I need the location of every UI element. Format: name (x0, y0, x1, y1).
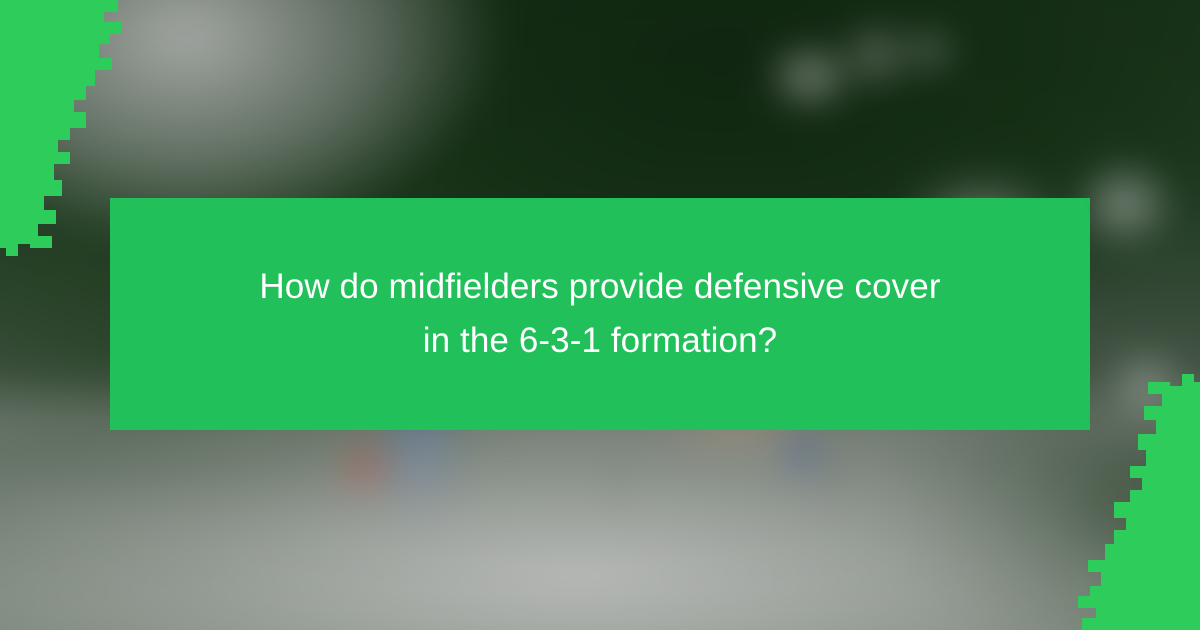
banner-title-line-1: How do midfielders provide defensive cov… (259, 260, 940, 314)
banner-title-line-2: in the 6-3-1 formation? (423, 314, 777, 368)
share-card-canvas: How do midfielders provide defensive cov… (0, 0, 1200, 630)
banner-title-text: How do midfielders provide defensive cov… (110, 198, 1090, 430)
ribbon-banner: How do midfielders provide defensive cov… (110, 198, 1090, 430)
